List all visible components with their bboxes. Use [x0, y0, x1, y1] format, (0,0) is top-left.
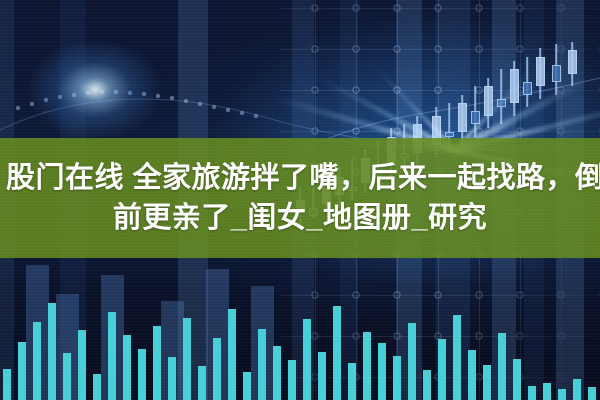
volume-bar: [273, 346, 281, 400]
volume-bar: [243, 372, 251, 400]
volume-bar: [363, 332, 371, 400]
stock-banner-image: 股门在线 全家旅游拌了嘴，后来一起找路，倒比以 前更亲了_闺女_地图册_研究: [0, 0, 600, 400]
volume-bar: [543, 383, 551, 400]
volume-bar: [558, 389, 566, 400]
volume-bar: [48, 303, 56, 400]
volume-bar: [453, 315, 461, 400]
volume-bar: [108, 312, 116, 400]
volume-bar: [408, 323, 416, 400]
volume-bar: [63, 353, 71, 400]
volume-bar: [198, 366, 206, 400]
volume-bar: [573, 379, 581, 400]
volume-bar: [3, 369, 11, 400]
volume-bar: [513, 359, 521, 400]
volume-bar: [483, 365, 491, 400]
volume-bar: [378, 343, 386, 400]
volume-bar: [138, 349, 146, 400]
volume-bar: [33, 322, 41, 400]
volume-bar: [468, 350, 476, 400]
banner-line-2: 前更亲了_闺女_地图册_研究: [113, 198, 487, 238]
volume-bar: [588, 387, 596, 400]
volume-bar: [348, 363, 356, 400]
volume-bar: [213, 338, 221, 400]
volume-bar: [153, 326, 161, 400]
volume-bar: [333, 306, 341, 400]
volume-bar: [228, 309, 236, 400]
volume-bar: [18, 342, 26, 400]
volume-bar: [78, 330, 86, 400]
volume-bar: [93, 374, 101, 400]
volume-bar: [498, 333, 506, 400]
volume-bar: [303, 319, 311, 400]
volume-bar: [318, 352, 326, 400]
volume-bar: [393, 356, 401, 400]
volume-bar: [438, 339, 446, 400]
volume-bar: [528, 386, 536, 400]
volume-bar: [423, 370, 431, 400]
volume-bar: [168, 357, 176, 400]
volume-bar: [288, 360, 296, 400]
volume-bar: [183, 318, 191, 400]
volume-bar: [123, 335, 131, 400]
title-overlay-banner: 股门在线 全家旅游拌了嘴，后来一起找路，倒比以 前更亲了_闺女_地图册_研究: [0, 138, 600, 258]
banner-line-1: 股门在线 全家旅游拌了嘴，后来一起找路，倒比以: [0, 158, 600, 198]
volume-bar: [258, 329, 266, 400]
